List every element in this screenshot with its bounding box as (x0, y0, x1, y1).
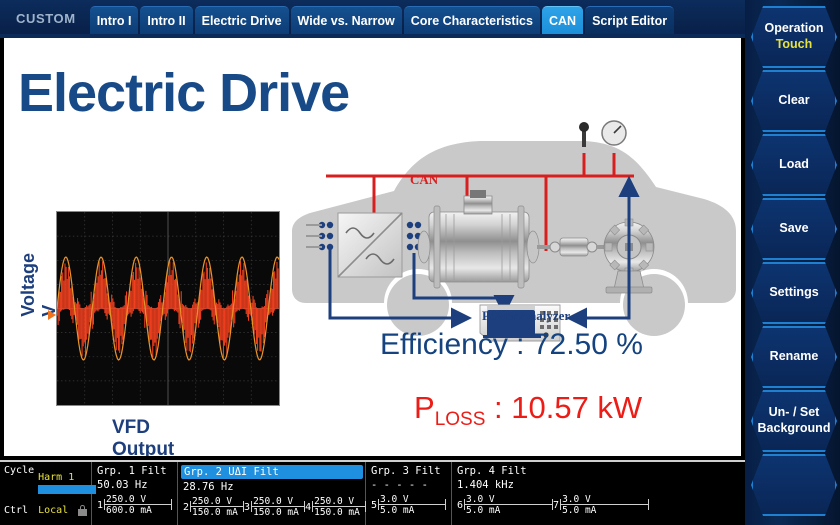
status-group-header: Grp. 4 Filt (457, 465, 648, 477)
status-channel[interactable]: 63.0 V5.0 mA (457, 494, 553, 516)
channel-current-range: 5.0 mA (560, 505, 649, 516)
status-group-frequency: 50.03 Hz (97, 479, 173, 491)
channel-range-bars: 250.0 V150.0 mA (190, 496, 244, 518)
status-group-3[interactable]: Grp. 3 Filt- - - - -53.0 V5.0 mA (366, 462, 452, 525)
sidebar-button-label: Clear (778, 93, 809, 109)
ctrl-value[interactable]: Local (38, 505, 68, 516)
sidebar-button-label: Operation (764, 21, 823, 37)
channel-number: 6 (457, 500, 463, 511)
status-channel[interactable]: 53.0 V5.0 mA (371, 494, 446, 516)
status-group-frequency: 28.76 Hz (183, 481, 361, 493)
cycle-value-group[interactable]: Harm 1 (38, 465, 96, 494)
scope-y-axis-label: Voltage V (18, 253, 60, 317)
slide-canvas: Electric Drive (4, 38, 741, 456)
sidebar-button-clear[interactable]: Clear (751, 70, 837, 132)
status-group-frequency: 1.404 kHz (457, 479, 648, 491)
channel-range-bars: 3.0 V5.0 mA (378, 494, 446, 516)
sidebar-button-save[interactable]: Save (751, 198, 837, 260)
channel-range-bars: 250.0 V600.0 mA (104, 494, 172, 516)
gauge-sensor-icon (602, 121, 626, 145)
app-window: CUSTOM Intro IIntro IIElectric DriveWide… (0, 0, 840, 525)
ploss-value: : 10.57 kW (485, 390, 642, 425)
scope-trigger-marker (48, 310, 56, 320)
channel-number: 4 (305, 502, 311, 513)
sidebar-button-label: Save (779, 221, 808, 237)
tab-can[interactable]: CAN (542, 6, 583, 34)
tab-script-editor[interactable]: Script Editor (585, 6, 674, 34)
lock-icon[interactable] (78, 505, 87, 516)
status-group-4[interactable]: Grp. 4 Filt1.404 kHz63.0 V5.0 mA73.0 V5.… (452, 462, 652, 525)
channel-number: 3 (244, 502, 250, 513)
status-group-header: Grp. 3 Filt (371, 465, 447, 477)
status-group-frequency: - - - - - (371, 479, 447, 491)
status-group-1[interactable]: Grp. 1 Filt50.03 Hz1250.0 V600.0 mA (92, 462, 178, 525)
sidebar-button-label: Settings (769, 285, 818, 301)
channel-current-range: 150.0 mA (251, 507, 305, 518)
channel-range-bars: 250.0 V150.0 mA (312, 496, 366, 518)
inverter-block (338, 213, 402, 277)
status-control-column: Cycle Harm 1 Ctrl Local (0, 462, 92, 525)
cycle-value: Harm 1 (38, 472, 74, 483)
sidebar-button-label: Load (779, 157, 809, 173)
status-group-header: Grp. 1 Filt (97, 465, 173, 477)
cycle-label: Cycle (4, 465, 34, 476)
can-bus-label: CAN (410, 172, 438, 188)
electric-motor (418, 190, 539, 288)
sidebar-button-load[interactable]: Load (751, 134, 837, 196)
channel-number: 2 (183, 502, 189, 513)
power-loss-readout: PLOSS : 10.57 kW (414, 390, 642, 431)
channel-number: 7 (553, 500, 559, 511)
tab-intro-ii[interactable]: Intro II (140, 6, 192, 34)
tab-intro-i[interactable]: Intro I (90, 6, 139, 34)
status-channel[interactable]: 3250.0 V150.0 mA (244, 496, 305, 518)
sidebar-button-label: Un- / Set Background (758, 405, 831, 436)
status-channel[interactable]: 1250.0 V600.0 mA (97, 494, 172, 516)
sidebar-button-sublabel: Touch (776, 37, 813, 53)
inverter-input-terminals (306, 222, 333, 250)
sidebar-button-operation[interactable]: OperationTouch (751, 6, 837, 68)
channel-current-range: 5.0 mA (464, 505, 553, 516)
channel-current-range: 5.0 mA (378, 505, 446, 516)
temperature-sensor-icon (579, 122, 589, 147)
channel-number: 1 (97, 500, 103, 511)
status-channel[interactable]: 4250.0 V150.0 mA (305, 496, 366, 518)
scope-caption: VFD Output (112, 417, 174, 456)
sidebar-button-empty-7[interactable] (751, 454, 837, 516)
channel-current-range: 150.0 mA (190, 507, 244, 518)
channel-number: 5 (371, 500, 377, 511)
channel-range-bars: 3.0 V5.0 mA (560, 494, 649, 516)
status-bar: Cycle Harm 1 Ctrl Local Grp. 1 Filt50.03… (0, 460, 745, 525)
custom-label: CUSTOM (6, 11, 90, 34)
cycle-row: Cycle Harm 1 (4, 465, 87, 494)
status-group-list: Grp. 1 Filt50.03 Hz1250.0 V600.0 mAGrp. … (92, 462, 745, 525)
scope-waveform[interactable] (56, 211, 280, 406)
tab-wide-vs-narrow[interactable]: Wide vs. Narrow (291, 6, 402, 34)
channel-current-range: 150.0 mA (312, 507, 366, 518)
cycle-progress-bar (38, 485, 96, 494)
channel-range-bars: 3.0 V5.0 mA (464, 494, 553, 516)
sidebar-button-label: Rename (770, 349, 819, 365)
ctrl-row: Ctrl Local (4, 505, 87, 516)
channel-range-bars: 250.0 V150.0 mA (251, 496, 305, 518)
right-sidebar: OperationTouchClearLoadSaveSettingsRenam… (745, 0, 840, 525)
ctrl-label: Ctrl (4, 505, 28, 516)
sidebar-button-settings[interactable]: Settings (751, 262, 837, 324)
sidebar-button-un-set-background[interactable]: Un- / Set Background (751, 390, 837, 452)
tab-list: Intro IIntro IIElectric DriveWide vs. Na… (90, 6, 676, 34)
status-channel[interactable]: 2250.0 V150.0 mA (183, 496, 244, 518)
channel-current-range: 600.0 mA (104, 505, 172, 516)
ploss-subscript: LOSS (435, 409, 486, 430)
status-group-header: Grp. 2 UΔI Filt (181, 465, 363, 479)
ploss-prefix: P (414, 390, 435, 425)
tab-core-characteristics[interactable]: Core Characteristics (404, 6, 540, 34)
efficiency-readout: Efficiency : 72.50 % (380, 328, 643, 362)
status-channel[interactable]: 73.0 V5.0 mA (553, 494, 649, 516)
status-group-2[interactable]: Grp. 2 UΔI Filt28.76 Hz2250.0 V150.0 mA3… (178, 462, 366, 525)
power-analyzer-label: Power Analyzer (482, 308, 570, 324)
sidebar-button-rename[interactable]: Rename (751, 326, 837, 388)
tab-electric-drive[interactable]: Electric Drive (195, 6, 289, 34)
tab-bar: CUSTOM Intro IIntro IIElectric DriveWide… (0, 0, 745, 34)
